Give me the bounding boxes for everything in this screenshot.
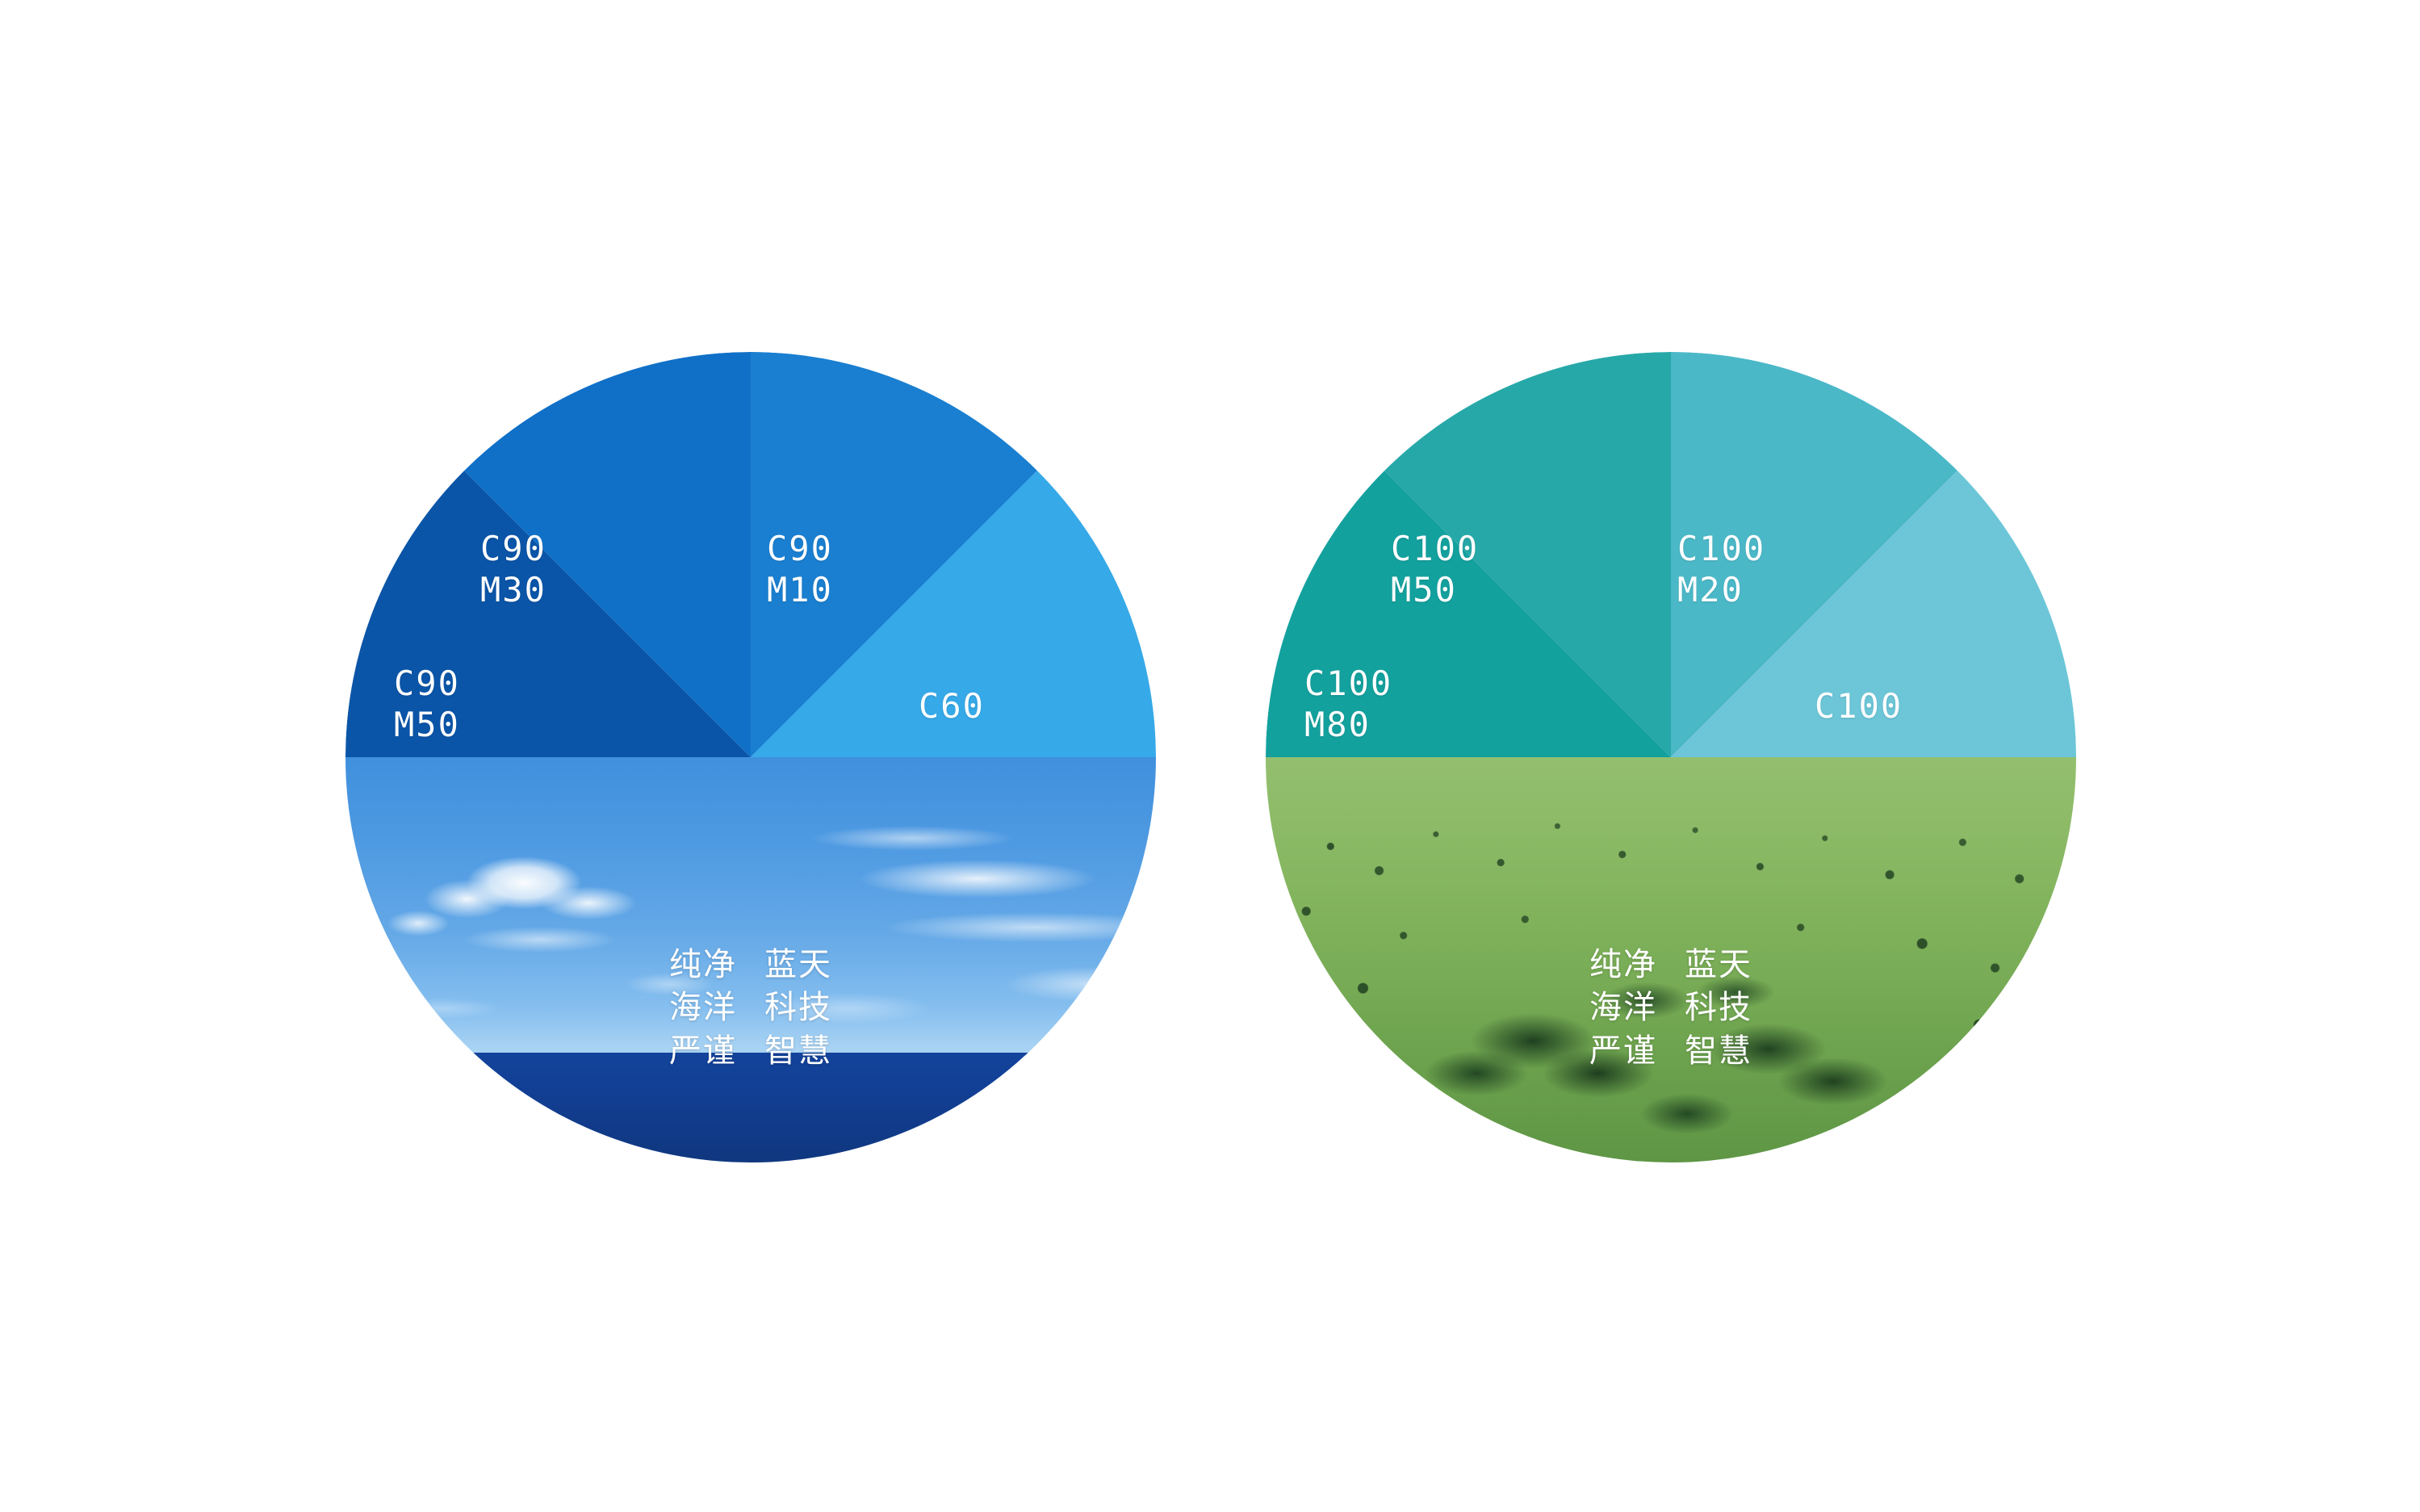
slogan-word-zhihui: 智慧 bbox=[1685, 1034, 1752, 1069]
slogan-word-keji: 科技 bbox=[1685, 991, 1752, 1026]
slogan-word-lantian: 蓝天 bbox=[764, 948, 832, 982]
green-slogan-block: 纯净 蓝天 海洋 科技 严谨 智慧 bbox=[1589, 948, 1752, 1069]
slogan-word-keji: 科技 bbox=[764, 991, 832, 1026]
green-palette-wheel: 纯净 蓝天 海洋 科技 严谨 智慧 C100 M80 C100 M50 C100… bbox=[1266, 352, 2076, 1162]
green-photo-half: 纯净 蓝天 海洋 科技 严谨 智慧 bbox=[1266, 757, 2076, 1162]
slogan-word-yanjin: 严谨 bbox=[1589, 1034, 1657, 1069]
slogan-word-haiyang: 海洋 bbox=[1589, 991, 1657, 1026]
blue-photo-half: 纯净 蓝天 海洋 科技 严谨 智慧 bbox=[345, 757, 1156, 1162]
slogan-word-lantian: 蓝天 bbox=[1685, 948, 1752, 982]
slogan-word-zhihui: 智慧 bbox=[764, 1034, 832, 1069]
blue-slogan-block: 纯净 蓝天 海洋 科技 严谨 智慧 bbox=[669, 948, 832, 1069]
canvas: 纯净 蓝天 海洋 科技 严谨 智慧 C90 M50 C90 M30 C90 M1… bbox=[0, 0, 2420, 1512]
slogan-word-chunjing: 纯净 bbox=[669, 948, 737, 982]
slogan-word-yanjin: 严谨 bbox=[669, 1034, 737, 1069]
blue-palette-wheel: 纯净 蓝天 海洋 科技 严谨 智慧 C90 M50 C90 M30 C90 M1… bbox=[345, 352, 1156, 1162]
slogan-word-haiyang: 海洋 bbox=[669, 991, 737, 1026]
slogan-word-chunjing: 纯净 bbox=[1589, 948, 1657, 982]
